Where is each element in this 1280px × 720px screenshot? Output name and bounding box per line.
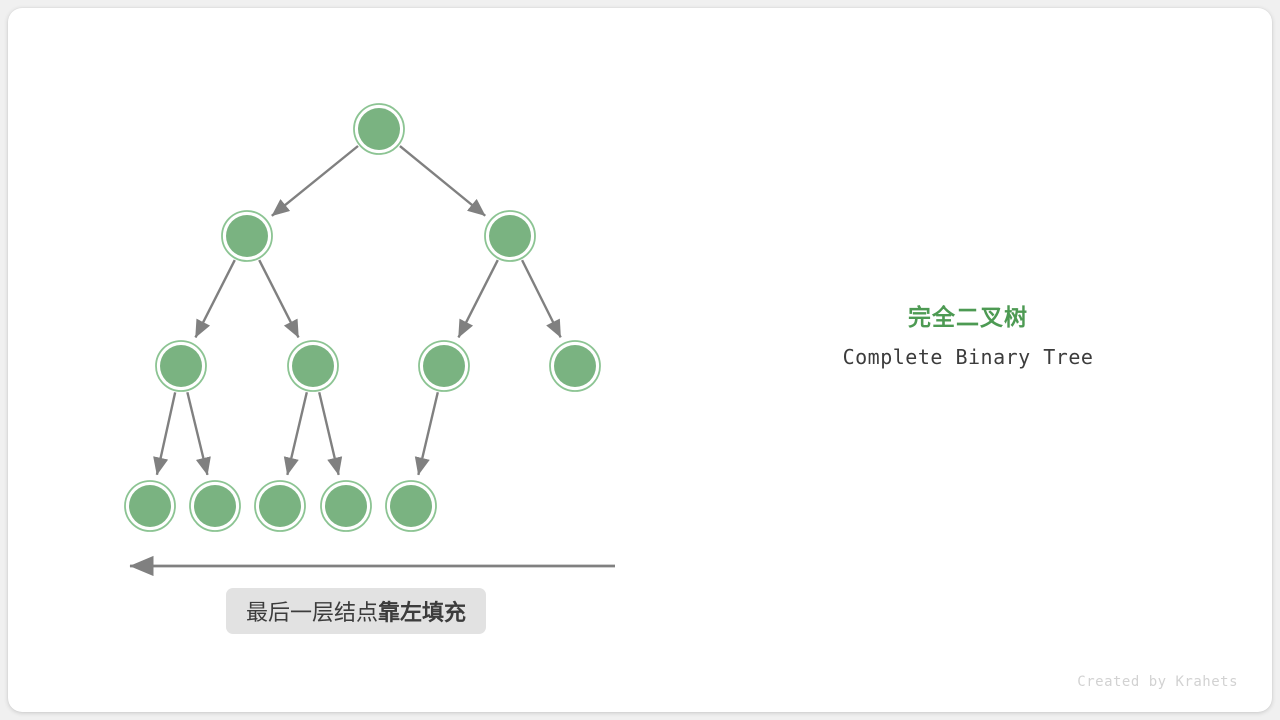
legend-title-chinese: 完全二叉树 [768,298,1168,332]
tree-edge [187,392,207,475]
note-badge: 最后一层结点靠左填充 [226,588,486,634]
tree-node-disc [194,485,236,527]
tree-node [222,211,272,261]
tree-node-disc [325,485,367,527]
tree-node-disc [160,345,202,387]
note-text-strong: 靠左填充 [378,595,466,627]
tree-edge [259,260,298,337]
tree-node [354,104,404,154]
tree-edges [157,146,561,475]
tree-edge [400,146,485,216]
tree-node [288,341,338,391]
tree-node [419,341,469,391]
tree-node-disc [489,215,531,257]
tree-edge [287,392,306,475]
tree-nodes [125,104,600,531]
tree-edge [272,146,358,216]
diagram-card: 完全二叉树 Complete Binary Tree 最后一层结点靠左填充 Cr… [8,8,1272,712]
tree-edge [157,392,175,474]
tree-node-disc [554,345,596,387]
legend-subtitle-english: Complete Binary Tree [768,345,1168,369]
tree-node [255,481,305,531]
tree-node-disc [358,108,400,150]
tree-node-disc [259,485,301,527]
footer-credit: Created by Krahets [878,674,1238,690]
tree-node [485,211,535,261]
tree-node [550,341,600,391]
tree-node-disc [226,215,268,257]
tree-node [156,341,206,391]
tree-edge [458,260,497,337]
tree-node [321,481,371,531]
tree-node-disc [129,485,171,527]
tree-node-disc [292,345,334,387]
tree-edge [319,392,338,475]
tree-node [190,481,240,531]
tree-edge [418,392,437,475]
tree-node [386,481,436,531]
note-text-plain: 最后一层结点 [246,595,378,627]
tree-node-disc [390,485,432,527]
tree-node-disc [423,345,465,387]
tree-node [125,481,175,531]
tree-edge [522,260,561,337]
tree-edge [195,260,234,337]
diagram-stage: 完全二叉树 Complete Binary Tree 最后一层结点靠左填充 Cr… [8,8,1272,712]
